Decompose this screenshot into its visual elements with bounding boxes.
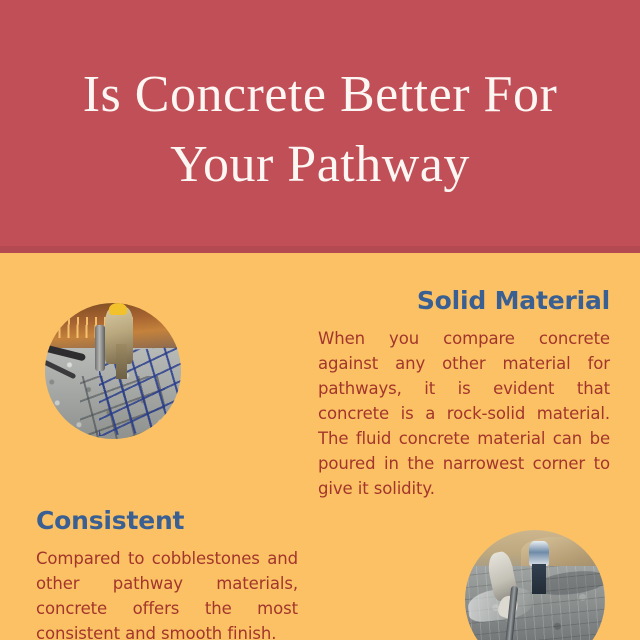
worker-b-legs-shape [532,564,546,595]
section-heading-solid-material: Solid Material [318,286,610,316]
photo-pour-hose [465,530,605,640]
worker-leg-shape [116,344,127,379]
photo-pour-hose-artwork [465,530,605,640]
hard-hat-shape [109,303,127,315]
worker-b-torso-shape [529,541,549,566]
concrete-pipe-shape [95,325,105,371]
section-body-solid-material: When you compare concrete against any ot… [318,326,610,501]
infographic-poster: Is Concrete Better For Your Pathway Soli… [0,0,640,640]
page-title: Is Concrete Better For Your Pathway [0,60,640,200]
section-heading-consistent: Consistent [36,506,298,536]
section-body-consistent: Compared to cobblestones and other pathw… [36,546,298,640]
photo-pour-rebar-artwork [45,303,181,439]
photo-pour-rebar [45,303,181,439]
header-band-shade [0,246,640,253]
